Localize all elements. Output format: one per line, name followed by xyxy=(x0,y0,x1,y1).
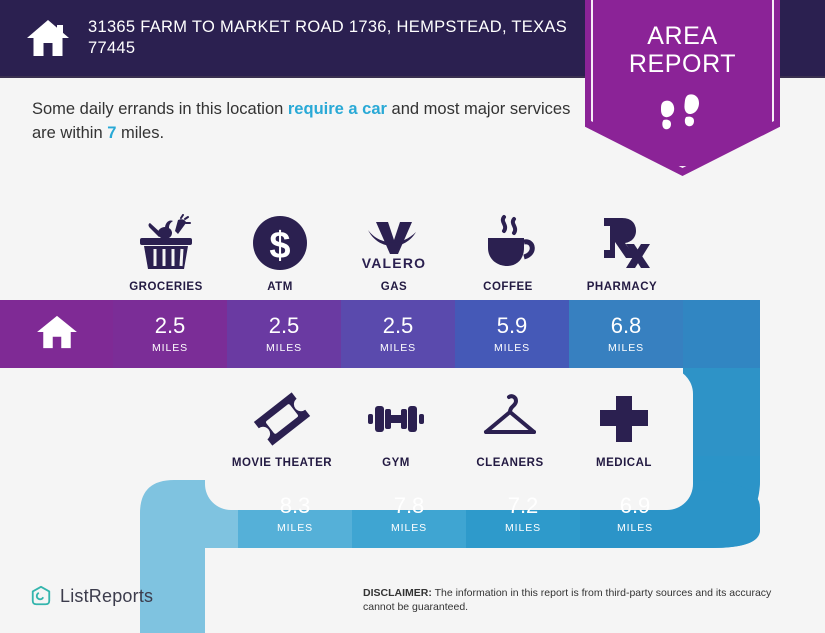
distance-cell-coffee: 5.9 MILES xyxy=(455,300,569,368)
amenity-pharmacy: PHARMACY xyxy=(565,214,679,293)
summary-highlight-miles: 7 xyxy=(107,124,116,142)
basket-icon xyxy=(134,214,198,272)
amenity-label: GROCERIES xyxy=(129,281,203,293)
amenity-atm: $ ATM xyxy=(223,214,337,293)
amenity-label: GYM xyxy=(382,457,410,469)
footprints-icon xyxy=(657,92,709,138)
distance-cell-gym: 7.8 MILES xyxy=(352,480,466,548)
distance-value: 2.5 xyxy=(269,315,300,337)
movie-ticket-icon xyxy=(250,390,314,448)
distance-unit: MILES xyxy=(494,342,530,354)
amenity-label: GAS xyxy=(381,281,407,293)
distance-value: 6.9 xyxy=(620,495,651,517)
distance-value: 8.3 xyxy=(280,495,311,517)
distance-value: 2.5 xyxy=(155,315,186,337)
amenity-label: COFFEE xyxy=(483,281,533,293)
amenity-cleaners: CLEANERS xyxy=(453,390,567,469)
amenity-gas: VALERO GAS xyxy=(337,214,451,293)
coffee-cup-icon xyxy=(476,214,540,272)
listreports-logo[interactable]: ListReports xyxy=(30,585,153,607)
summary-highlight-require-a-car: require a car xyxy=(288,100,387,118)
amenity-label: PHARMACY xyxy=(587,281,657,293)
logo-text: ListReports xyxy=(60,586,153,607)
distance-unit: MILES xyxy=(380,342,416,354)
amenity-label: ATM xyxy=(267,281,293,293)
badge-title-line2: REPORT xyxy=(585,50,780,78)
amenity-icon-row-2: MOVIE THEATER GYM xyxy=(225,390,681,469)
distance-cell-medical: 6.9 MILES xyxy=(580,480,690,548)
house-icon xyxy=(26,18,70,58)
dumbbell-icon xyxy=(364,390,428,448)
summary-part-1: Some daily errands in this location xyxy=(32,100,288,118)
page-title: 31365 FARM TO MARKET ROAD 1736, HEMPSTEA… xyxy=(88,17,568,59)
dollar-circle-icon: $ xyxy=(248,214,312,272)
distance-unit: MILES xyxy=(391,522,427,534)
distance-value: 7.2 xyxy=(508,495,539,517)
area-report-page: 31365 FARM TO MARKET ROAD 1736, HEMPSTEA… xyxy=(0,0,825,633)
hanger-icon xyxy=(478,390,542,448)
distance-cell-groceries: 2.5 MILES xyxy=(113,300,227,368)
distance-cell-cleaners: 7.2 MILES xyxy=(466,480,580,548)
distance-value: 2.5 xyxy=(383,315,414,337)
distance-cell-atm: 2.5 MILES xyxy=(227,300,341,368)
valero-logo-icon: VALERO xyxy=(354,214,434,272)
house-icon xyxy=(36,314,78,355)
amenity-groceries: GROCERIES xyxy=(109,214,223,293)
distance-cell-gas: 2.5 MILES xyxy=(341,300,455,368)
disclaimer: DISCLAIMER: The information in this repo… xyxy=(363,586,788,614)
rx-icon xyxy=(590,214,654,272)
distance-value: 7.8 xyxy=(394,495,425,517)
badge-title: AREA REPORT xyxy=(585,22,780,78)
distance-unit: MILES xyxy=(505,522,541,534)
distance-unit: MILES xyxy=(277,522,313,534)
amenity-medical: MEDICAL xyxy=(567,390,681,469)
distance-cell-movie-theater: 8.3 MILES xyxy=(238,480,352,548)
amenity-label: CLEANERS xyxy=(476,457,543,469)
summary-part-3: miles. xyxy=(116,124,164,142)
distance-value: 6.8 xyxy=(611,315,642,337)
amenity-label: MOVIE THEATER xyxy=(232,457,332,469)
header-content: 31365 FARM TO MARKET ROAD 1736, HEMPSTEA… xyxy=(0,17,568,59)
amenity-label: MEDICAL xyxy=(596,457,652,469)
amenity-coffee: COFFEE xyxy=(451,214,565,293)
distance-unit: MILES xyxy=(152,342,188,354)
distance-unit: MILES xyxy=(617,522,653,534)
amenity-gym: GYM xyxy=(339,390,453,469)
area-report-badge: AREA REPORT xyxy=(585,0,780,176)
distance-cell-pharmacy: 6.8 MILES xyxy=(569,300,683,368)
svg-text:VALERO: VALERO xyxy=(362,255,427,271)
disclaimer-label: DISCLAIMER: xyxy=(363,587,432,599)
amenity-icon-row-1: GROCERIES $ ATM VALERO xyxy=(109,214,679,293)
svg-text:$: $ xyxy=(269,225,290,267)
listreports-house-tag-icon xyxy=(30,585,52,607)
origin-home-cell xyxy=(0,300,113,368)
amenity-movie-theater: MOVIE THEATER xyxy=(225,390,339,469)
distance-unit: MILES xyxy=(266,342,302,354)
medical-cross-icon xyxy=(592,390,656,448)
distance-unit: MILES xyxy=(608,342,644,354)
distance-value: 5.9 xyxy=(497,315,528,337)
badge-title-line1: AREA xyxy=(585,22,780,50)
summary-text: Some daily errands in this location requ… xyxy=(32,98,572,146)
